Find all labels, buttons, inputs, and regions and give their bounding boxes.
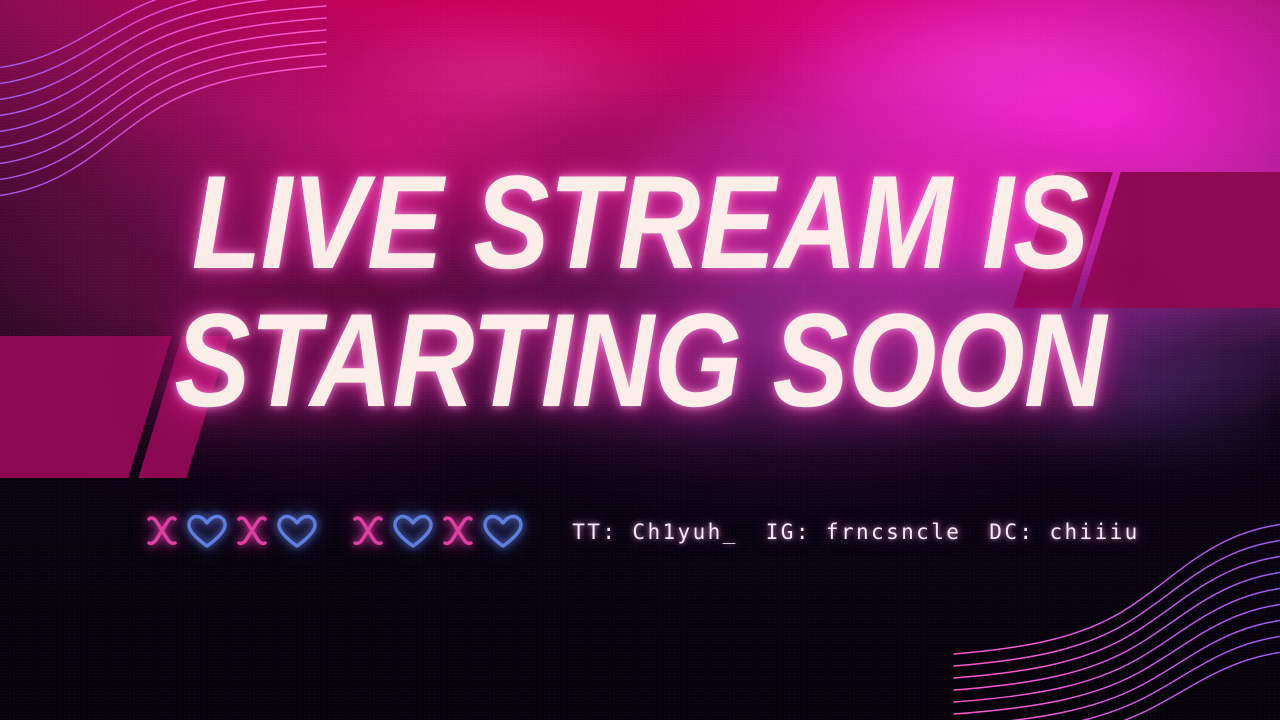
bottom-info-strip: TT: Ch1yuh_ IG: frncsncle DC: chiiiu [0, 503, 1280, 561]
neon-heart-icon [390, 512, 436, 552]
headline-line-one: LIVE STREAM IS [90, 158, 1191, 290]
xoxo-set-two [346, 512, 526, 552]
neon-x-icon [436, 512, 480, 552]
xoxo-set-one [140, 512, 320, 552]
headline-line-two: STARTING SOON [90, 296, 1191, 428]
neon-heart-icon [184, 512, 230, 552]
handle-tiktok: TT: Ch1yuh_ [572, 520, 737, 544]
neon-heart-icon [274, 512, 320, 552]
xoxo-neon-decoration [140, 512, 526, 552]
headline-block: LIVE STREAM IS STARTING SOON [0, 158, 1280, 427]
neon-heart-icon [480, 512, 526, 552]
handle-discord: DC: chiiiu [989, 520, 1139, 544]
handle-instagram: IG: frncsncle [766, 520, 962, 544]
stream-starting-soon-screen: LIVE STREAM IS STARTING SOON [0, 0, 1280, 720]
neon-x-icon [346, 512, 390, 552]
neon-x-icon [140, 512, 184, 552]
social-handles-row: TT: Ch1yuh_ IG: frncsncle DC: chiiiu [572, 520, 1139, 544]
neon-x-icon [230, 512, 274, 552]
